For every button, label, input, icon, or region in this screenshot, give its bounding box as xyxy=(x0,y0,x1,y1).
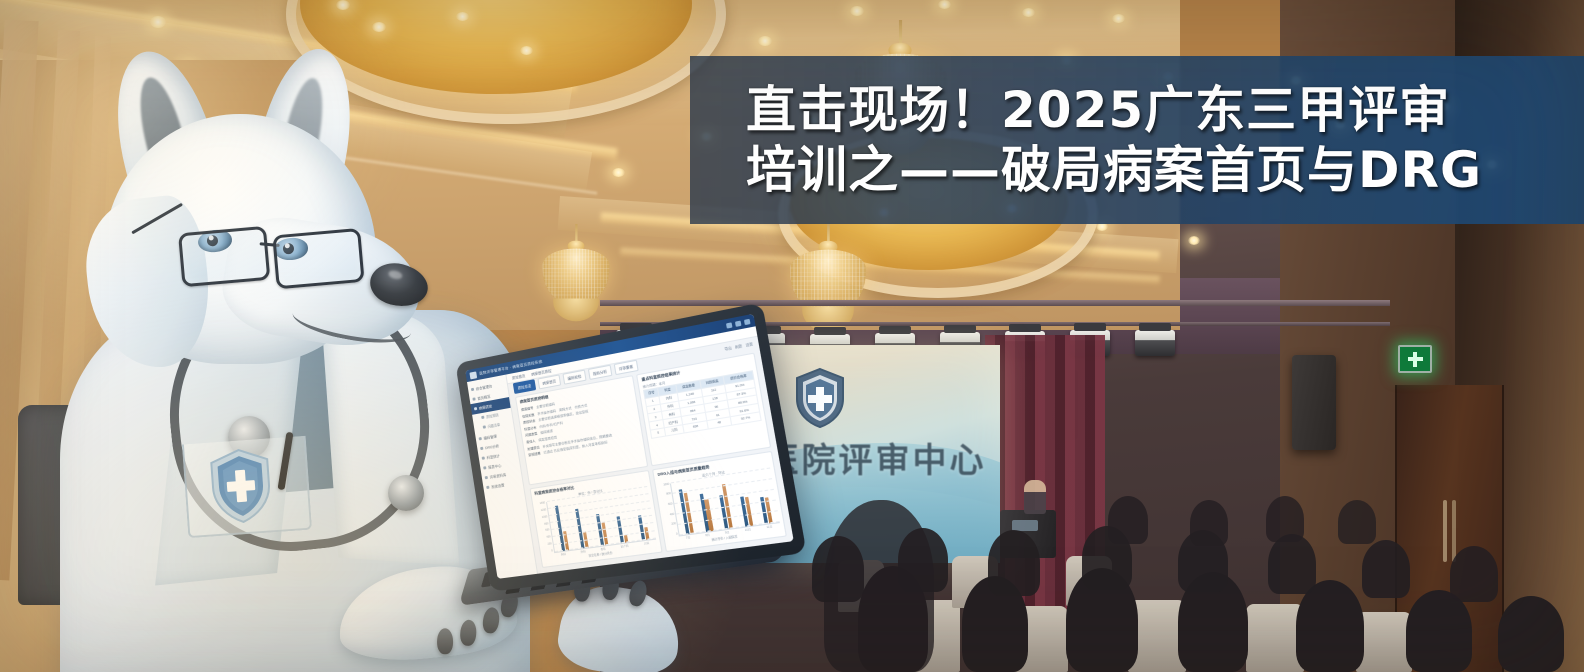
sidebar-item-label: 首页概览 xyxy=(477,393,491,400)
laptop-device: 医院评审管理平台 · 病案首页质控系统 综合管理台 xyxy=(452,306,821,622)
y-tick-label: 400 xyxy=(670,514,675,517)
sidebar-item-label: 系统设置 xyxy=(491,483,505,490)
wolf-head xyxy=(78,48,498,378)
list-icon xyxy=(481,416,484,419)
glasses-icon xyxy=(172,210,411,292)
door-handle xyxy=(1443,500,1447,562)
y-tick-label: 400 xyxy=(546,537,550,540)
restore-icon[interactable] xyxy=(735,320,742,326)
shield-cross-icon xyxy=(207,446,274,526)
y-tick-label: 200 xyxy=(548,544,552,547)
stethoscope-chestpiece xyxy=(388,475,424,511)
y-tick-label: 0 xyxy=(676,534,678,537)
sidebar-item-label: 病案质控 xyxy=(479,403,493,410)
breadcrumb-item[interactable]: 质控首页 xyxy=(512,373,526,380)
sidebar-item-label: DRG分析 xyxy=(485,443,500,450)
bar-chart-drg: 近六个月 · 环比 10008006004002000 7月8月9月10月11月… xyxy=(658,463,781,547)
report-icon xyxy=(483,466,486,469)
folder-icon xyxy=(485,476,488,479)
promo-banner-image: 广东省医院评审中心 xyxy=(0,0,1584,672)
banner-line-2: 培训之——破局病案首页与DRG xyxy=(746,140,1550,200)
y-tick-label: 800 xyxy=(666,494,671,497)
code-icon xyxy=(479,437,482,440)
presenter-figure xyxy=(1024,480,1046,514)
sidebar-item-label: 质控规则 xyxy=(486,412,499,419)
sidebar-item-label: 问题清单 xyxy=(487,422,500,429)
sidebar-item-label: 编码管理 xyxy=(483,433,497,440)
sidebar-item-label: 评审资料库 xyxy=(489,472,506,480)
y-tick-label: 800 xyxy=(544,523,548,526)
y-tick-label: 600 xyxy=(668,504,673,507)
pa-speaker xyxy=(1292,355,1336,450)
app-logo-icon xyxy=(469,371,477,379)
y-tick-label: 1400 xyxy=(540,502,546,505)
export-button[interactable]: 导出 xyxy=(724,345,732,352)
close-icon[interactable] xyxy=(744,318,751,324)
shield-cross-icon xyxy=(793,367,847,429)
y-tick-label: 200 xyxy=(672,524,677,527)
minimize-icon[interactable] xyxy=(726,322,733,328)
y-tick-label: 1200 xyxy=(541,509,547,512)
sidebar-item-label: 科室统计 xyxy=(486,453,500,460)
door-handle-secondary xyxy=(1452,500,1456,562)
dashboard-icon xyxy=(471,387,474,390)
y-tick-label: 1000 xyxy=(663,483,669,486)
stage-light xyxy=(1135,330,1175,356)
refresh-button[interactable]: 刷新 xyxy=(735,343,743,350)
list-icon xyxy=(483,426,486,429)
card-department-table: 重点科室质控结果统计 统计周期：本月 序号 科室 病案数量 问题病案 xyxy=(636,353,771,467)
card-chart-drg: DRG入组与病案首页质量趋势 近六个月 · 环比 100080060040020… xyxy=(652,451,787,552)
settings-button[interactable]: 设置 xyxy=(745,341,753,348)
pie-icon xyxy=(480,446,483,449)
card-quality-detail: 病案首页质控明细 病案编号 主要诊断编码 住院天数 手术操作编码 xyxy=(515,375,649,485)
sidebar-item-label: 报表中心 xyxy=(488,463,502,470)
y-tick-label: 1000 xyxy=(542,516,548,519)
y-tick-label: 600 xyxy=(545,530,549,533)
bar xyxy=(575,509,585,548)
lighting-truss xyxy=(600,300,1390,306)
bar-chart-departments: 单位：份 / 百分比 1400120010008006004002000 内科外… xyxy=(535,482,658,564)
title-banner: 直击现场！2025广东三甲评审 培训之——破局病案首页与DRG xyxy=(690,56,1584,224)
window-controls[interactable] xyxy=(726,318,751,328)
gear-icon xyxy=(486,486,489,489)
chart-icon xyxy=(474,407,477,410)
laptop-screen: 医院评审管理平台 · 病案首页质控系统 综合管理台 xyxy=(465,314,794,579)
banner-line-1: 直击现场！2025广东三甲评审 xyxy=(746,80,1550,140)
emergency-exit-icon xyxy=(1398,345,1432,373)
bar-icon xyxy=(482,456,485,459)
home-icon xyxy=(472,397,475,400)
card-chart-departments: 科室病案质控合格率对比 单位：份 / 百分比 14001200100080060… xyxy=(530,470,663,568)
